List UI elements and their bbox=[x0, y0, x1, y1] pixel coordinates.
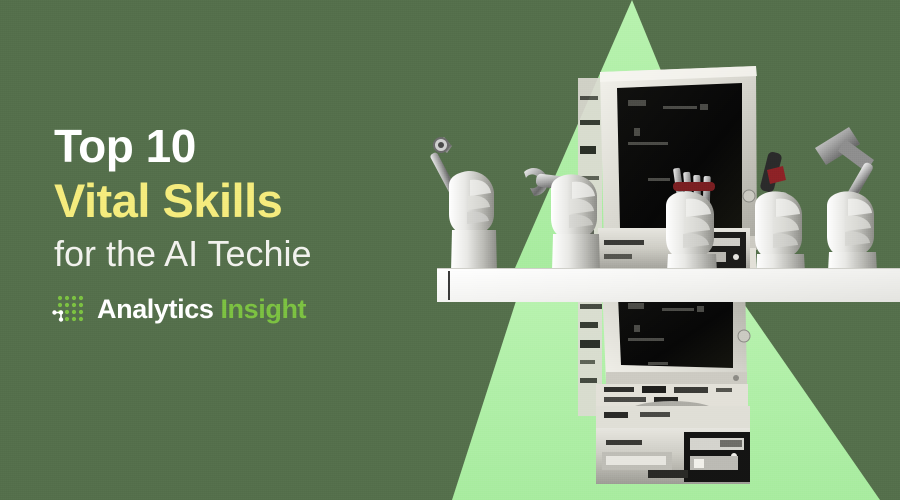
band-tick-mark bbox=[448, 271, 450, 300]
logo-word-insight: Insight bbox=[220, 294, 306, 324]
article-banner: Top 10 Vital Skills for the AI Techie bbox=[0, 0, 900, 500]
logo-word-analytics: Analytics bbox=[97, 294, 213, 324]
hand-hammer bbox=[815, 127, 877, 272]
headline-line-3: for the AI Techie bbox=[54, 233, 454, 274]
white-horizontal-band bbox=[437, 268, 900, 302]
dot-grid-icon bbox=[52, 292, 86, 326]
logo-wordmark: AnalyticsInsight bbox=[97, 294, 306, 325]
hand-open-end-wrench bbox=[524, 168, 600, 272]
analytics-insight-logo[interactable]: AnalyticsInsight bbox=[52, 292, 306, 326]
desktop-tower-bottom bbox=[596, 401, 750, 484]
headline-block: Top 10 Vital Skills for the AI Techie bbox=[54, 122, 454, 275]
headline-line-2: Vital Skills bbox=[54, 175, 454, 228]
hand-screwdriver bbox=[755, 151, 805, 272]
headline-line-1: Top 10 bbox=[54, 122, 454, 172]
